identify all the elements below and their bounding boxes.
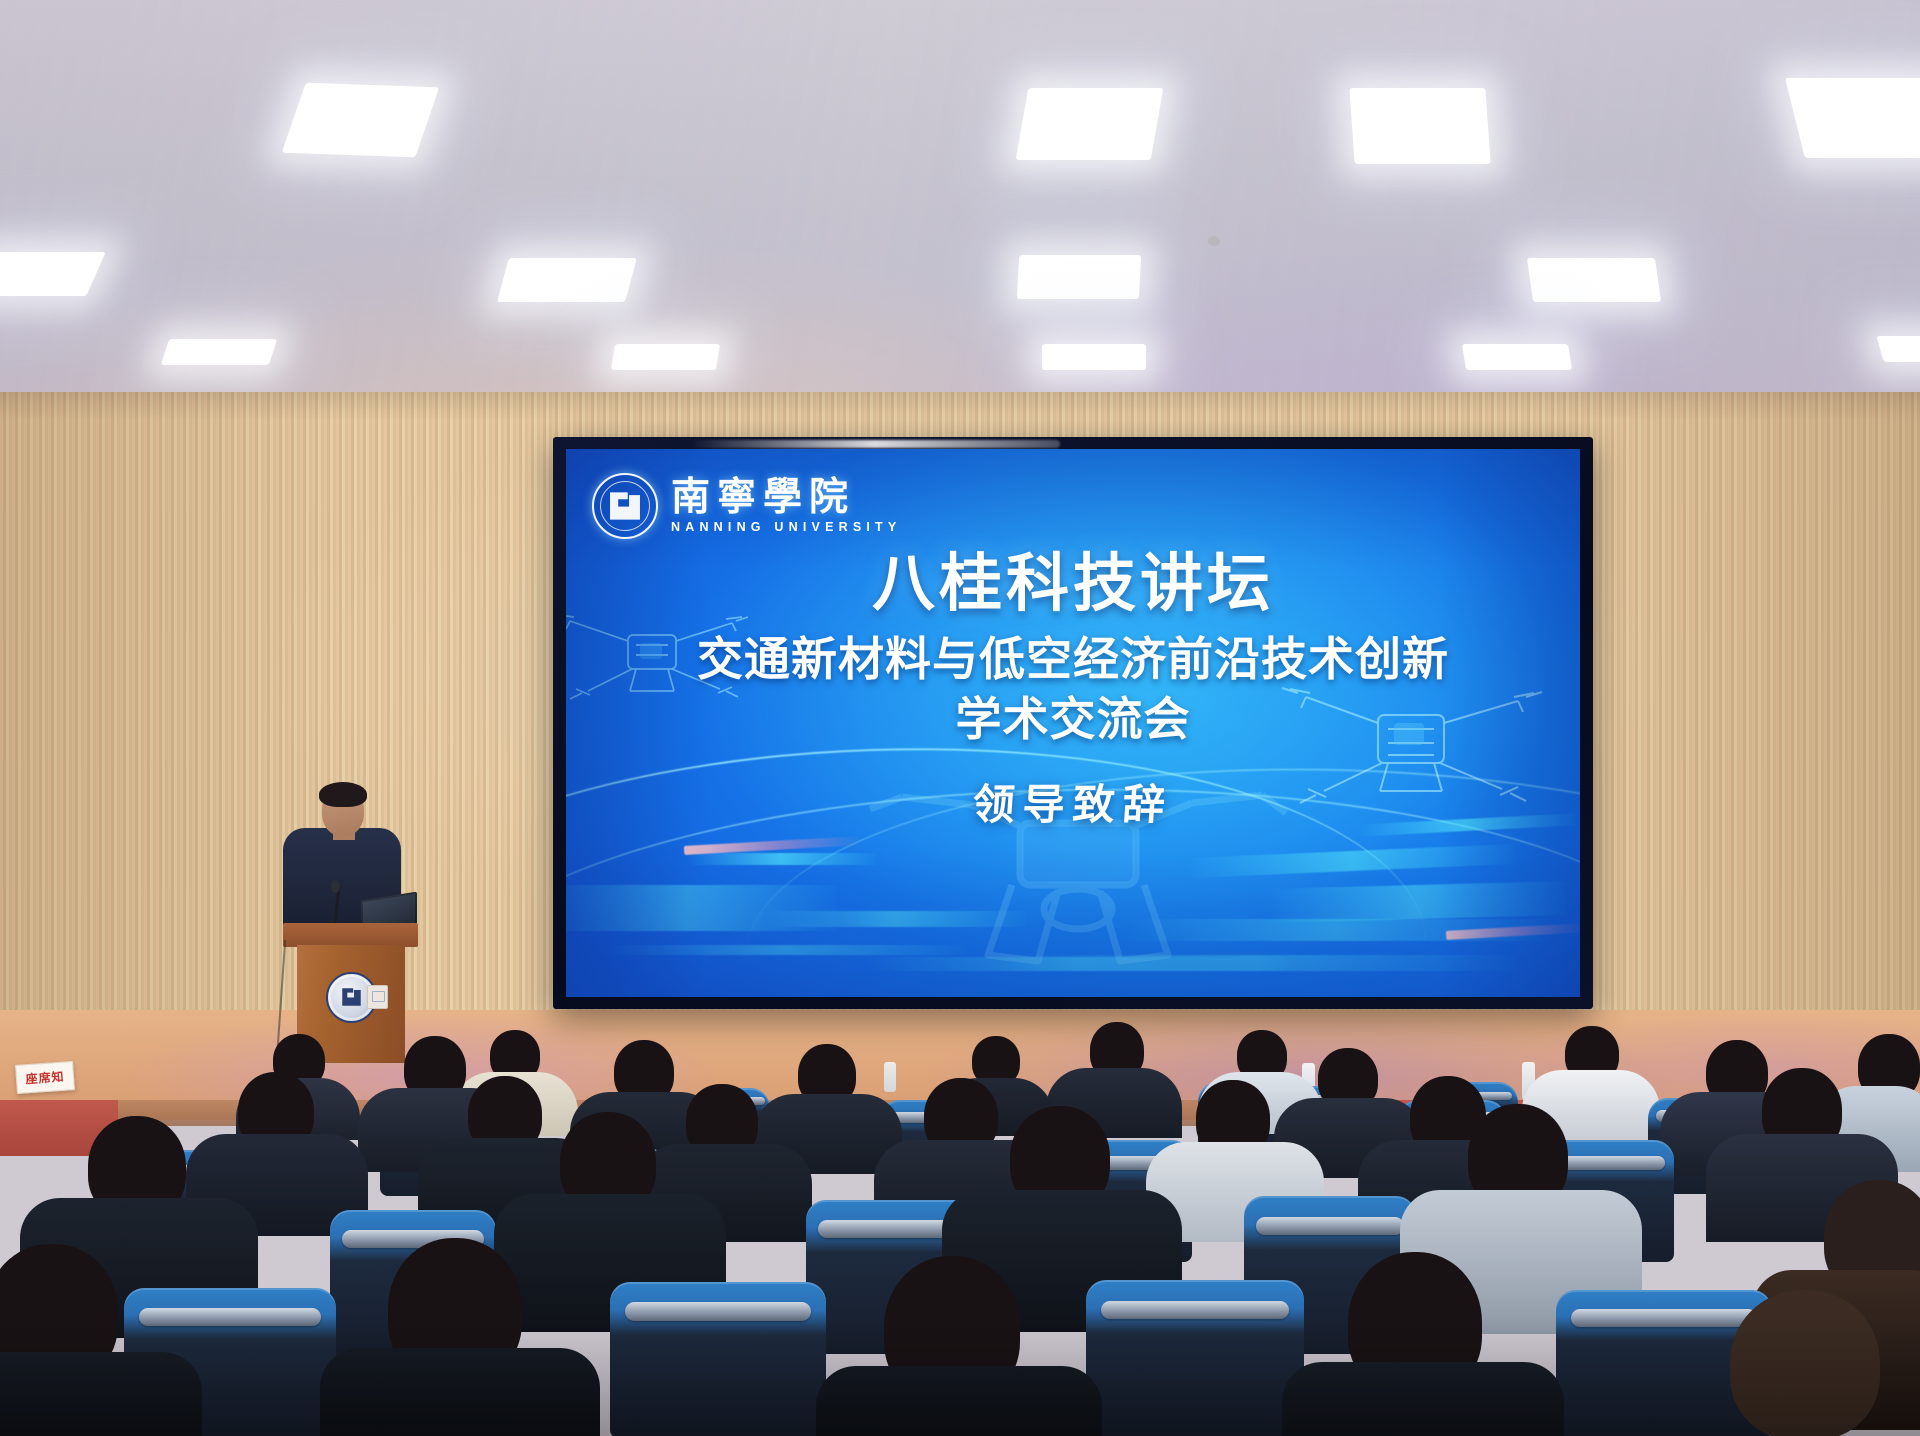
logo-english-name: NANNING UNIVERSITY	[671, 520, 901, 534]
audience-shoulders	[0, 1352, 202, 1436]
ceiling-light-panel	[1042, 344, 1146, 370]
ceiling-light-panel	[611, 344, 720, 370]
slide-remark-label: 领导致辞	[566, 771, 1580, 832]
ceiling-light-panel	[1208, 236, 1220, 246]
seat	[610, 1282, 826, 1436]
ceiling-color-cast	[0, 0, 1920, 405]
audience-shoulders	[1282, 1362, 1564, 1436]
speaker-hair	[319, 782, 367, 807]
nanning-university-emblem-icon	[592, 473, 658, 539]
audience-shoulders	[816, 1366, 1102, 1436]
placard-left: 座席知	[15, 1061, 75, 1094]
ceiling-light-panel	[1462, 344, 1572, 370]
microphone-head-icon	[331, 880, 340, 893]
ceiling-light-panel	[497, 258, 637, 302]
screen-top-glare	[690, 440, 1060, 448]
ceiling-light-panel	[161, 339, 277, 365]
university-logo: 南寧學院 NANNING UNIVERSITY	[592, 473, 901, 539]
audience-head	[1730, 1290, 1880, 1436]
ceiling-light-panel	[282, 83, 439, 158]
slide-title: 八桂科技讲坛	[566, 533, 1580, 624]
ceiling-light-panel	[1349, 88, 1490, 164]
seat	[1086, 1280, 1304, 1436]
water-bottle	[884, 1062, 896, 1092]
ceiling-light-panel	[1527, 258, 1661, 302]
slide-subtitle-line2: 学术交流会	[566, 683, 1580, 749]
ceiling-light-panel	[1876, 336, 1920, 362]
logo-chinese-name: 南寧學院	[671, 478, 901, 517]
placard-left-text: 座席知	[25, 1068, 65, 1088]
ceiling-light-panel	[1785, 78, 1920, 158]
power-outlet-icon	[367, 985, 388, 1009]
auditorium-photo: 南寧學院 NANNING UNIVERSITY 八桂科技讲坛 交通新材料与低空经…	[0, 0, 1920, 1436]
audience-shoulders	[320, 1348, 600, 1436]
led-screen: 南寧學院 NANNING UNIVERSITY 八桂科技讲坛 交通新材料与低空经…	[566, 449, 1580, 997]
slide-subtitle-line1: 交通新材料与低空经济前沿技术创新	[566, 623, 1580, 689]
podium-top	[283, 923, 418, 947]
ceiling-light-panel	[1016, 88, 1164, 160]
ceiling-light-panel	[1017, 255, 1141, 299]
